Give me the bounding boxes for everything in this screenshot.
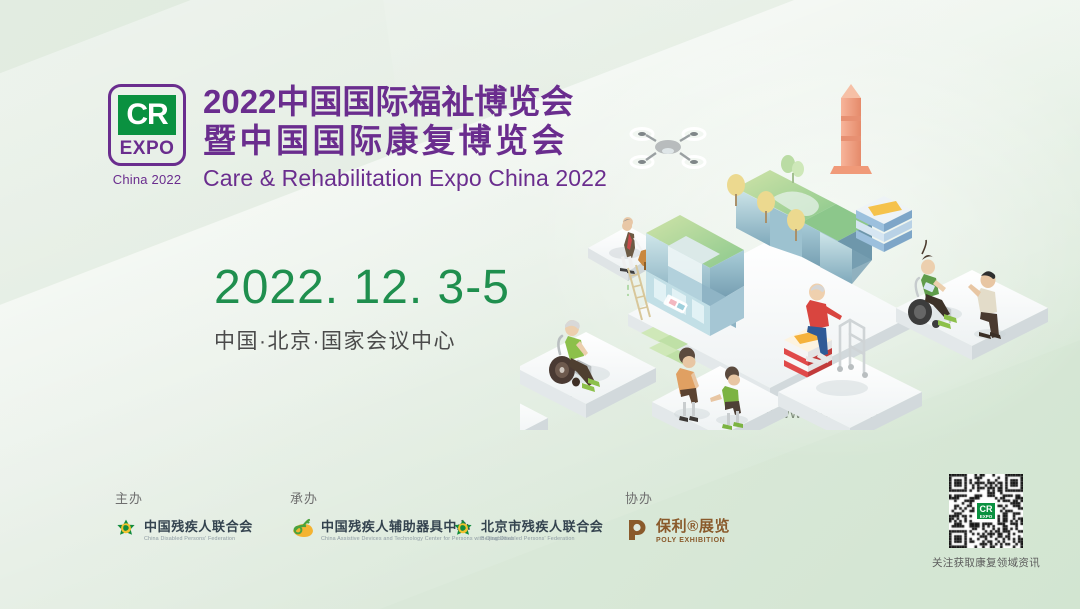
logo-china-year: China 2022	[101, 172, 193, 187]
sponsor-role-1: 承办	[290, 488, 514, 507]
delivery-drone-icon	[631, 129, 705, 168]
qr-caption: 关注获取康复领域资讯	[930, 555, 1042, 570]
sponsor-name-en-0: China Disabled Persons' Federation	[144, 536, 253, 543]
sponsor-names-0: 中国残疾人联合会 China Disabled Persons' Federat…	[144, 520, 253, 543]
sponsor-entry-3: 保利®展览 POLY EXHIBITION	[625, 518, 730, 547]
sponsor-entry-2: 北京市残疾人联合会 Beijing Disabled Persons' Fede…	[452, 518, 603, 545]
logo-cr-mark: CR	[118, 95, 176, 135]
sponsor-group-co-organizer: 协办 保利®展览 POLY EXHIBITION	[625, 488, 730, 547]
qr-center-cr-mark: CREXPO	[977, 503, 995, 519]
sponsor-name-cn-2: 北京市残疾人联合会	[481, 520, 603, 534]
cr-expo-logo: CR EXPO China 2022	[108, 84, 200, 187]
sponsor-role-3: 协办	[625, 488, 730, 507]
sponsor-name-cn-3: 保利®展览	[656, 519, 730, 536]
qr-center-logo: CREXPO	[975, 500, 997, 522]
sponsor-entry-0: 中国残疾人联合会 China Disabled Persons' Federat…	[115, 518, 253, 545]
event-date: 2022. 12. 3-5	[214, 264, 510, 312]
isometric-illustration	[520, 70, 1080, 430]
sponsor-names-2: 北京市残疾人联合会 Beijing Disabled Persons' Fede…	[481, 520, 603, 543]
expo-promo-banner: CR EXPO China 2022 2022中国国际福祉博览会 暨中国国际康复…	[0, 0, 1080, 609]
logo-expo-text: EXPO	[120, 139, 175, 158]
poly-p-emblem-icon	[625, 518, 649, 547]
cadtc-emblem-icon	[290, 518, 314, 545]
sponsor-group-beijing: 北京市残疾人联合会 Beijing Disabled Persons' Fede…	[452, 518, 603, 545]
sponsors-strip: 主办 中国残疾人联合会 China Disabled Persons' Fede…	[0, 488, 1080, 568]
event-details: 2022. 12. 3-5 中国·北京·国家会议中心	[214, 264, 510, 355]
wechat-qr-block: CREXPO 关注获取康复领域资讯	[930, 474, 1042, 570]
sponsor-group-organizer: 主办 中国残疾人联合会 China Disabled Persons' Fede…	[115, 488, 253, 545]
qr-code[interactable]: CREXPO	[949, 474, 1023, 548]
event-venue: 中国·北京·国家会议中心	[214, 325, 510, 355]
logo-frame: CR EXPO	[108, 84, 186, 166]
tower-landmark	[830, 84, 872, 174]
sponsor-name-en-2: Beijing Disabled Persons' Federation	[481, 536, 603, 543]
sponsor-names-3: 保利®展览 POLY EXHIBITION	[656, 519, 730, 546]
sponsor-name-en-3: POLY EXHIBITION	[656, 537, 730, 546]
sponsor-role-0: 主办	[115, 488, 253, 507]
bdpf-flower-emblem-icon	[452, 518, 474, 545]
cdpf-flower-emblem-icon	[115, 518, 137, 545]
sponsor-name-cn-0: 中国残疾人联合会	[144, 520, 253, 534]
